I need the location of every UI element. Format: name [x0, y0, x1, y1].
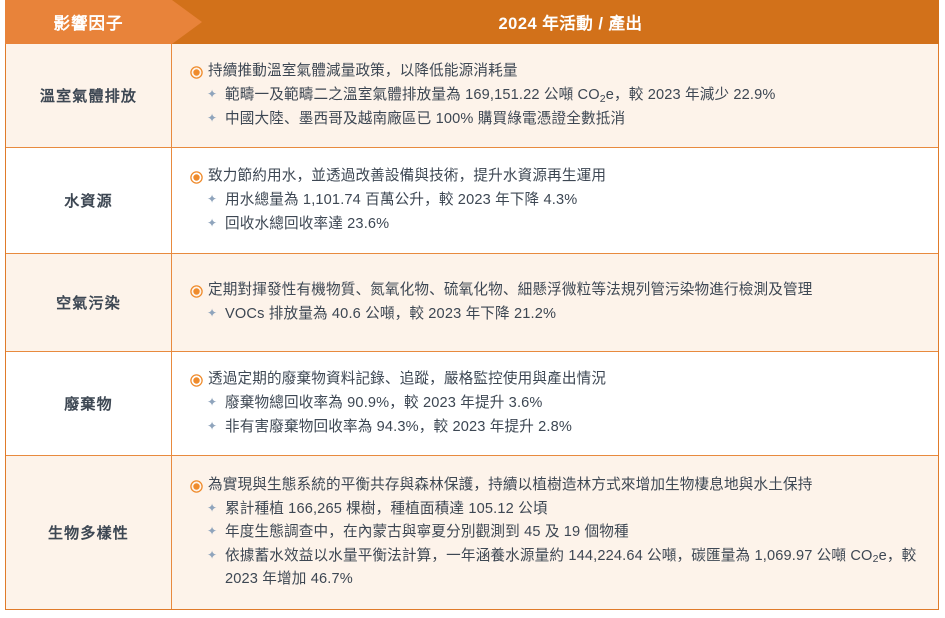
table-body: 溫室氣體排放持續推動溫室氣體減量政策，以降低能源消耗量✦範疇一及範疇二之溫室氣體… [5, 44, 939, 610]
factor-label: 生物多樣性 [48, 522, 129, 543]
factor-cell: 廢棄物 [6, 352, 172, 455]
ring-dot-icon [190, 279, 208, 298]
four-point-star-icon: ✦ [207, 546, 225, 565]
bullet-text: 廢棄物總回收率為 90.9%，較 2023 年提升 3.6% [225, 392, 924, 415]
factor-label: 水資源 [64, 190, 113, 211]
subscript: 2 [873, 553, 879, 565]
activity-cell: 透過定期的廢棄物資料記錄、追蹤，嚴格監控使用與產出情況✦廢棄物總回收率為 90.… [172, 352, 938, 455]
four-point-star-icon: ✦ [207, 85, 225, 104]
factor-cell: 水資源 [6, 148, 172, 253]
bullet-text: 回收水總回收率達 23.6% [225, 213, 924, 236]
four-point-star-icon: ✦ [207, 304, 225, 323]
sub-bullet-item: ✦累計種植 166,265 棵樹，種植面積達 105.12 公頃 [190, 498, 924, 521]
sub-bullet-item: ✦依據蓄水效益以水量平衡法計算，一年涵養水源量約 144,224.64 公噸，碳… [190, 545, 924, 591]
main-bullet-item: 透過定期的廢棄物資料記錄、追蹤，嚴格監控使用與產出情況 [190, 368, 924, 391]
table-row: 空氣污染定期對揮發性有機物質、氮氧化物、硫氧化物、細懸浮微粒等法規列管污染物進行… [6, 254, 938, 352]
four-point-star-icon: ✦ [207, 417, 225, 436]
four-point-star-icon: ✦ [207, 214, 225, 233]
factor-label: 空氣污染 [56, 292, 121, 313]
table-row: 生物多樣性為實現與生態系統的平衡共存與森林保護，持續以植樹造林方式來增加生物棲息… [6, 456, 938, 609]
sub-bullet-item: ✦年度生態調查中，在內蒙古與寧夏分別觀測到 45 及 19 個物種 [190, 521, 924, 544]
bullet-text: 透過定期的廢棄物資料記錄、追蹤，嚴格監控使用與產出情況 [208, 368, 924, 391]
subscript: 2 [600, 93, 606, 105]
bullet-text: 累計種植 166,265 棵樹，種植面積達 105.12 公頃 [225, 498, 924, 521]
sub-bullet-item: ✦中國大陸、墨西哥及越南廠區已 100% 購買綠電憑證全數抵消 [190, 108, 924, 131]
bullet-text: 為實現與生態系統的平衡共存與森林保護，持續以植樹造林方式來增加生物棲息地與水土保… [208, 474, 924, 497]
sub-bullet-item: ✦回收水總回收率達 23.6% [190, 213, 924, 236]
bullet-text: 非有害廢棄物回收率為 94.3%，較 2023 年提升 2.8% [225, 416, 924, 439]
sub-bullet-item: ✦非有害廢棄物回收率為 94.3%，較 2023 年提升 2.8% [190, 416, 924, 439]
factor-label: 廢棄物 [64, 393, 113, 414]
factor-cell: 溫室氣體排放 [6, 44, 172, 147]
four-point-star-icon: ✦ [207, 109, 225, 128]
bullet-text: 依據蓄水效益以水量平衡法計算，一年涵養水源量約 144,224.64 公噸，碳匯… [225, 545, 924, 591]
environment-performance-table: 影響因子 2024 年活動 / 產出 溫室氣體排放持續推動溫室氣體減量政策，以降… [0, 0, 945, 618]
bullet-text: 範疇一及範疇二之溫室氣體排放量為 169,151.22 公噸 CO2e，較 20… [225, 84, 924, 107]
main-bullet-item: 為實現與生態系統的平衡共存與森林保護，持續以植樹造林方式來增加生物棲息地與水土保… [190, 474, 924, 497]
sub-bullet-item: ✦用水總量為 1,101.74 百萬公升，較 2023 年下降 4.3% [190, 189, 924, 212]
main-bullet-item: 致力節約用水，並透過改善設備與技術，提升水資源再生運用 [190, 165, 924, 188]
bullet-text: VOCs 排放量為 40.6 公噸，較 2023 年下降 21.2% [225, 303, 924, 326]
bullet-text: 定期對揮發性有機物質、氮氧化物、硫氧化物、細懸浮微粒等法規列管污染物進行檢測及管… [208, 279, 924, 302]
table-header-bar: 影響因子 2024 年活動 / 產出 [5, 0, 939, 44]
factor-label: 溫室氣體排放 [40, 85, 137, 106]
main-bullet-item: 持續推動溫室氣體減量政策，以降低能源消耗量 [190, 60, 924, 83]
table-row: 溫室氣體排放持續推動溫室氣體減量政策，以降低能源消耗量✦範疇一及範疇二之溫室氣體… [6, 44, 938, 148]
ring-dot-icon [190, 60, 208, 79]
sub-bullet-item: ✦廢棄物總回收率為 90.9%，較 2023 年提升 3.6% [190, 392, 924, 415]
bullet-text: 用水總量為 1,101.74 百萬公升，較 2023 年下降 4.3% [225, 189, 924, 212]
four-point-star-icon: ✦ [207, 499, 225, 518]
ring-dot-icon [190, 165, 208, 184]
four-point-star-icon: ✦ [207, 522, 225, 541]
table-row: 水資源致力節約用水，並透過改善設備與技術，提升水資源再生運用✦用水總量為 1,1… [6, 148, 938, 254]
activity-cell: 持續推動溫室氣體減量政策，以降低能源消耗量✦範疇一及範疇二之溫室氣體排放量為 1… [172, 44, 938, 147]
main-bullet-item: 定期對揮發性有機物質、氮氧化物、硫氧化物、細懸浮微粒等法規列管污染物進行檢測及管… [190, 279, 924, 302]
bullet-text: 持續推動溫室氣體減量政策，以降低能源消耗量 [208, 60, 924, 83]
bullet-text: 年度生態調查中，在內蒙古與寧夏分別觀測到 45 及 19 個物種 [225, 521, 924, 544]
four-point-star-icon: ✦ [207, 190, 225, 209]
factor-cell: 空氣污染 [6, 254, 172, 351]
activity-cell: 為實現與生態系統的平衡共存與森林保護，持續以植樹造林方式來增加生物棲息地與水土保… [172, 456, 938, 609]
sub-bullet-item: ✦範疇一及範疇二之溫室氣體排放量為 169,151.22 公噸 CO2e，較 2… [190, 84, 924, 107]
activity-cell: 定期對揮發性有機物質、氮氧化物、硫氧化物、細懸浮微粒等法規列管污染物進行檢測及管… [172, 254, 938, 351]
bullet-text: 致力節約用水，並透過改善設備與技術，提升水資源再生運用 [208, 165, 924, 188]
table-row: 廢棄物透過定期的廢棄物資料記錄、追蹤，嚴格監控使用與產出情況✦廢棄物總回收率為 … [6, 352, 938, 456]
bullet-text: 中國大陸、墨西哥及越南廠區已 100% 購買綠電憑證全數抵消 [225, 108, 924, 131]
ring-dot-icon [190, 368, 208, 387]
header-cell-factor: 影響因子 [5, 0, 172, 44]
factor-cell: 生物多樣性 [6, 456, 172, 609]
four-point-star-icon: ✦ [207, 393, 225, 412]
ring-dot-icon [190, 474, 208, 493]
sub-bullet-item: ✦VOCs 排放量為 40.6 公噸，較 2023 年下降 21.2% [190, 303, 924, 326]
header-cell-activity: 2024 年活動 / 產出 [202, 0, 939, 44]
activity-cell: 致力節約用水，並透過改善設備與技術，提升水資源再生運用✦用水總量為 1,101.… [172, 148, 938, 253]
